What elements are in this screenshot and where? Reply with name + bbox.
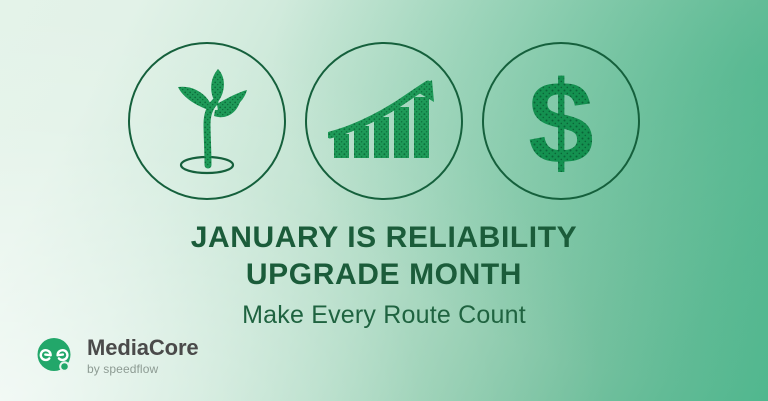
mediacore-logo-mark-icon (33, 334, 77, 378)
svg-text:$: $ (528, 65, 594, 177)
promo-banner: $ JANUARY IS RELIABILITY UPGRADE MONTH M… (0, 0, 768, 401)
headline: JANUARY IS RELIABILITY UPGRADE MONTH (0, 219, 768, 293)
sprout-icon (159, 66, 255, 176)
growth-bar-chart-icon (328, 78, 440, 164)
subheadline: Make Every Route Count (0, 300, 768, 330)
logo-tagline: by speedflow (87, 363, 199, 375)
dollar-sign-icon: $ (515, 65, 607, 177)
brand-logo[interactable]: MediaCore by speedflow (33, 334, 199, 378)
headline-line-1: JANUARY IS RELIABILITY (0, 219, 768, 256)
dollar-sign-icon-circle: $ (482, 42, 640, 200)
icon-row: $ (0, 42, 768, 200)
logo-text: MediaCore by speedflow (87, 337, 199, 375)
logo-name: MediaCore (87, 337, 199, 359)
sprout-icon-circle (128, 42, 286, 200)
headline-line-2: UPGRADE MONTH (0, 256, 768, 293)
growth-bar-chart-icon-circle (305, 42, 463, 200)
